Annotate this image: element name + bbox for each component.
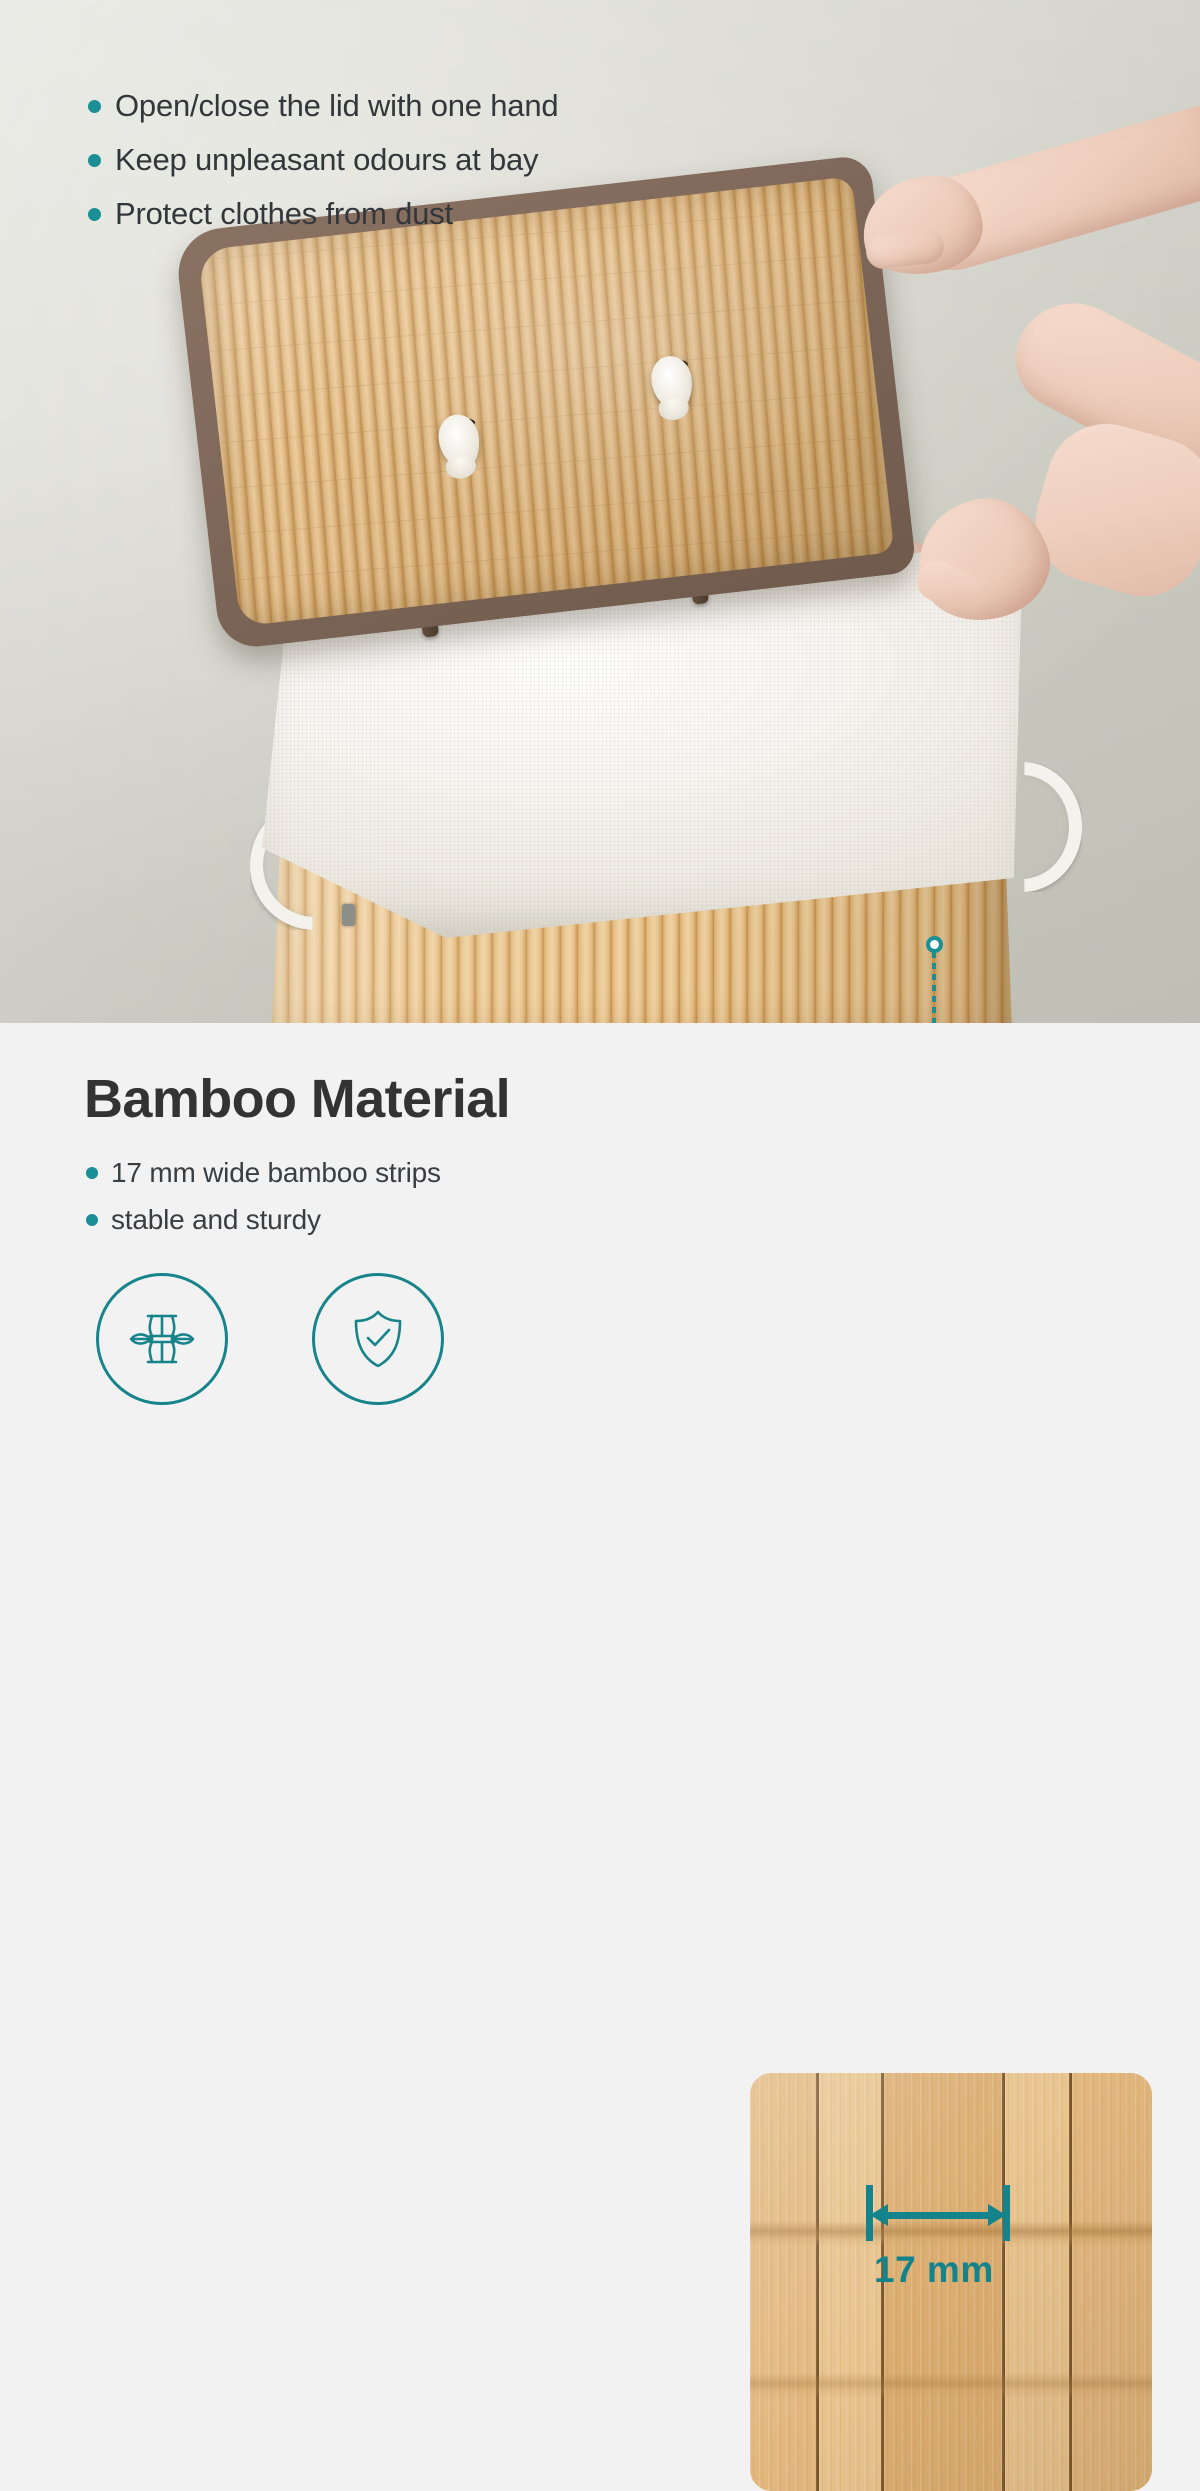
arrow-head-left-icon [870,2204,888,2226]
zoom-callout-marker [926,936,943,953]
list-item: 17 mm wide bamboo strips [86,1155,441,1192]
bullet-dot-icon [88,100,101,113]
page-title: Bamboo Material [84,1068,510,1130]
bamboo-stalk-icon [96,1273,228,1405]
list-item: stable and sturdy [86,1202,441,1239]
material-bullet-text: stable and sturdy [111,1202,321,1239]
arm-lower-extension [1021,410,1200,611]
feature-bullet-text: Keep unpleasant odours at bay [115,140,538,181]
list-item: Keep unpleasant odours at bay [88,140,558,181]
feature-bullet-text: Protect clothes from dust [115,194,453,235]
product-photo-section: Open/close the lid with one hand Keep un… [0,0,1200,1023]
list-item: Protect clothes from dust [88,194,558,235]
bamboo-closeup-inset: 17 mm [750,2073,1152,2491]
measurement-arrow [868,2201,1008,2227]
bullet-dot-icon [86,1167,98,1179]
shield-check-icon [312,1273,444,1405]
material-info-section: Bamboo Material 17 mm wide bamboo strips… [0,1023,1200,1500]
bullet-dot-icon [86,1214,98,1226]
feature-bullet-text: Open/close the lid with one hand [115,86,558,127]
feature-bullet-list: Open/close the lid with one hand Keep un… [88,86,558,248]
bullet-dot-icon [88,154,101,167]
feature-icon-row [96,1273,444,1405]
material-bullet-list: 17 mm wide bamboo strips stable and stur… [86,1155,441,1249]
grommet-icon [342,904,355,926]
arrow-head-right-icon [988,2204,1006,2226]
callout-connector-line [932,952,936,1023]
measurement-line [878,2212,998,2219]
measurement-label: 17 mm [874,2249,994,2291]
list-item: Open/close the lid with one hand [88,86,558,127]
material-bullet-text: 17 mm wide bamboo strips [111,1155,441,1192]
bullet-dot-icon [88,208,101,221]
